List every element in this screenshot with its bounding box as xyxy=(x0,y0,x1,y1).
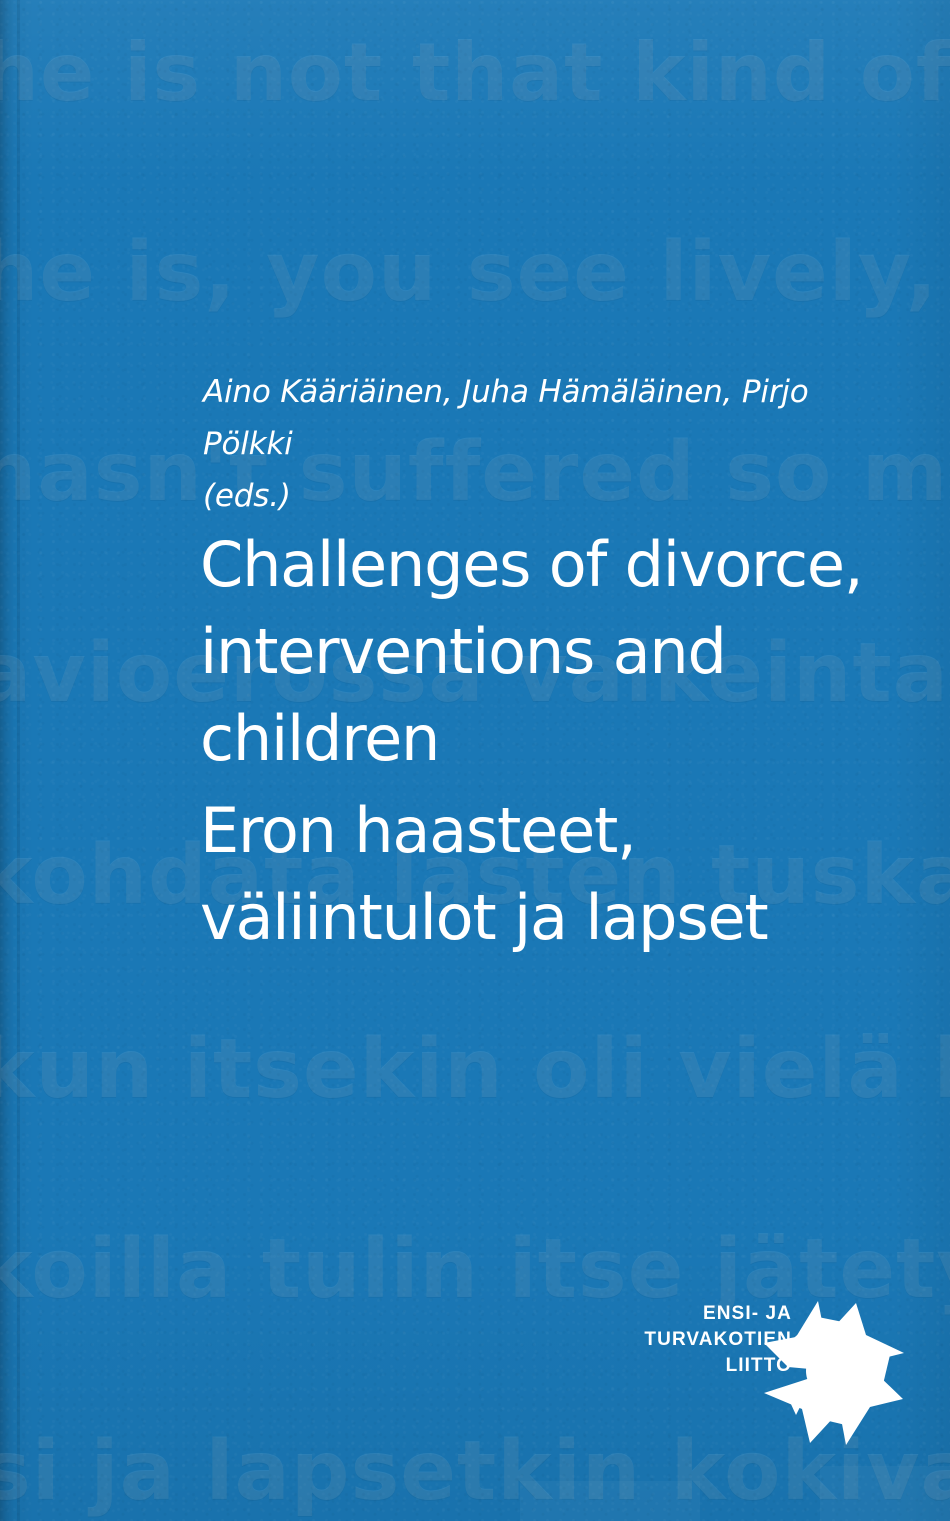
publisher-logo-block: ENSI- JA TURVAKOTIEN LIITTO xyxy=(648,1295,910,1455)
title-english-line-1: Challenges of divorce, xyxy=(200,521,900,608)
pinwheel-icon xyxy=(758,1297,908,1449)
book-cover: he is not that kind of childhe is, you s… xyxy=(0,0,950,1521)
editor-names: Aino Kääriäinen, Juha Hämäläinen, Pirjo … xyxy=(203,374,808,462)
title-finnish-line-1: Eron haasteet, xyxy=(200,787,900,874)
cover-content: Aino Kääriäinen, Juha Hämäläinen, Pirjo … xyxy=(0,0,950,1521)
title-english-line-3: children xyxy=(200,695,900,782)
editors-credit: Aino Kääriäinen, Juha Hämäläinen, Pirjo … xyxy=(203,366,903,522)
title-finnish: Eron haasteet, väliintulot ja lapset xyxy=(200,787,900,961)
title-finnish-line-2: väliintulot ja lapset xyxy=(200,874,900,961)
editors-role-label: (eds.) xyxy=(203,470,903,522)
title-english: Challenges of divorce, interventions and… xyxy=(200,521,900,782)
title-english-line-2: interventions and xyxy=(200,608,900,695)
